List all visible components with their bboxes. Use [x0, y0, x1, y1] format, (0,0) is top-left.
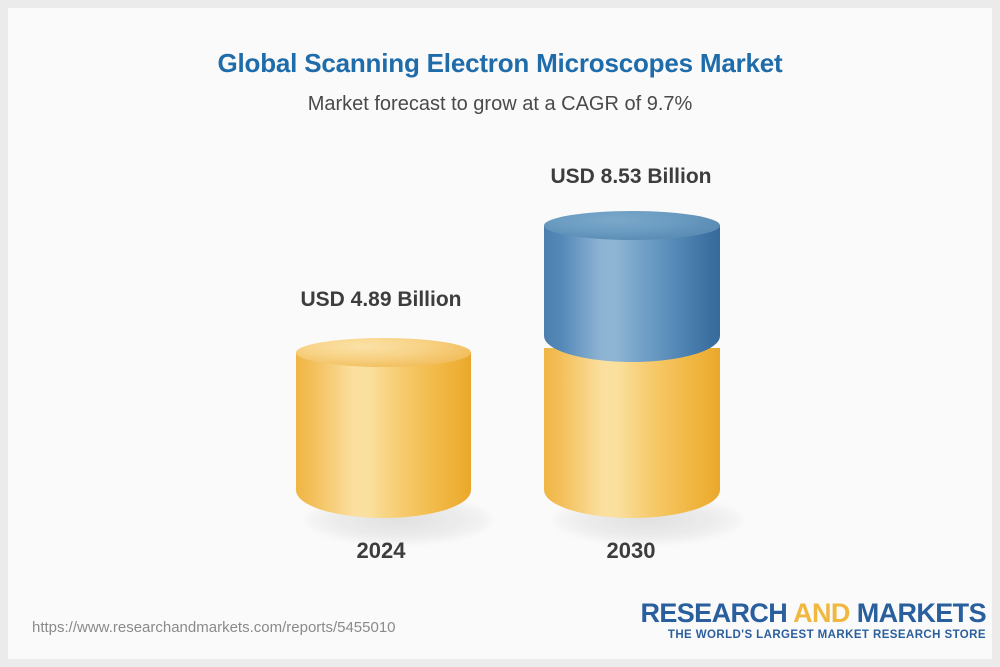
bar-segment-growth-2030 [544, 225, 720, 362]
report-url[interactable]: https://www.researchandmarkets.com/repor… [32, 619, 396, 636]
bar-top-ellipse-2024 [296, 338, 471, 367]
bar-top-ellipse-2030 [544, 211, 720, 240]
chart-title: Global Scanning Electron Microscopes Mar… [8, 48, 992, 79]
research-and-markets-logo[interactable]: RESEARCH AND MARKETS THE WORLD'S LARGEST… [640, 599, 986, 641]
axis-label-2030: 2030 [526, 538, 736, 564]
axis-label-2024: 2024 [276, 538, 486, 564]
bar-segment-base-2030 [544, 348, 720, 518]
chart-card: Global Scanning Electron Microscopes Mar… [8, 8, 992, 659]
bar-cylinder-2024 [296, 338, 471, 518]
logo-word-research: RESEARCH [640, 598, 793, 628]
logo-word-markets: MARKETS [857, 598, 986, 628]
bar-value-label-2030: USD 8.53 Billion [526, 165, 736, 189]
bar-body-2024 [296, 352, 471, 518]
logo-wordmark: RESEARCH AND MARKETS [640, 599, 986, 627]
bar-value-label-2024: USD 4.89 Billion [276, 288, 486, 312]
chart-subtitle: Market forecast to grow at a CAGR of 9.7… [8, 93, 992, 116]
bar-cylinder-2030 [544, 211, 720, 518]
logo-tagline: THE WORLD'S LARGEST MARKET RESEARCH STOR… [640, 629, 986, 641]
logo-word-and: AND [793, 598, 857, 628]
